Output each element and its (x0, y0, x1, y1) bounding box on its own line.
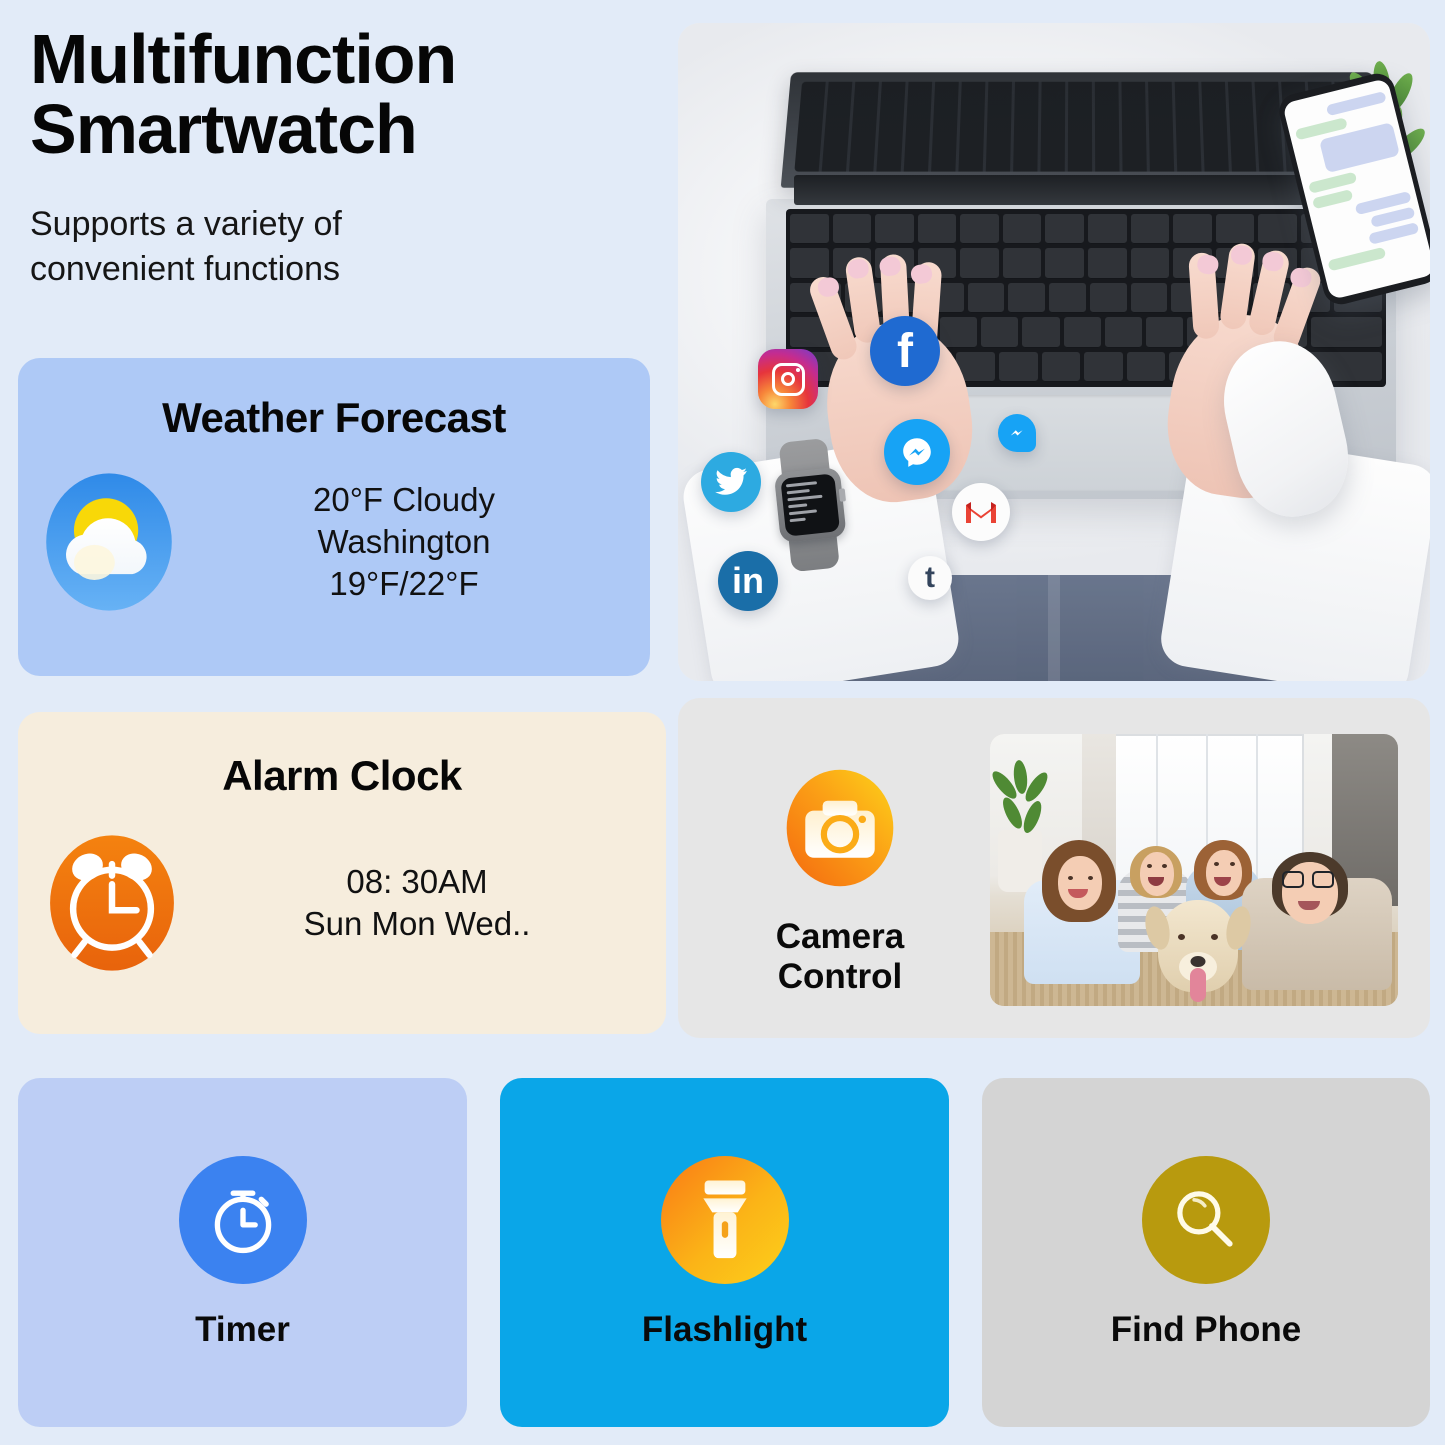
gmail-envelope-icon (964, 499, 998, 525)
weather-card-heading: Weather Forecast (18, 394, 650, 442)
weather-range: 19°F/22°F (188, 563, 620, 605)
camera-control-label: Camera Control (734, 917, 946, 997)
alarm-clock-icon (40, 828, 184, 978)
facebook-icon[interactable]: f (870, 316, 940, 386)
watch-crown-button[interactable] (839, 488, 846, 502)
tumblr-icon[interactable]: t (908, 556, 952, 600)
twitter-bird-icon (714, 467, 748, 497)
laptop-hinge (794, 175, 1372, 205)
laptop-desk-scene: f in t (678, 23, 1430, 681)
smartwatch-on-wrist (769, 456, 852, 549)
timer-label: Timer (195, 1310, 290, 1350)
messenger-bubble-icon[interactable] (998, 414, 1036, 452)
family-with-dog-photo (990, 734, 1398, 1006)
tumblr-glyph: t (925, 561, 935, 595)
weather-temp-condition: 20°F Cloudy (188, 479, 620, 521)
camera-icon (778, 762, 902, 894)
timer-card[interactable]: Timer (18, 1078, 467, 1427)
camera-control-card[interactable]: Camera Control (678, 698, 1430, 1038)
hero-lifestyle-image: f in t (678, 23, 1430, 681)
headline-block: Multifunction Smartwatch Supports a vari… (30, 24, 660, 292)
messenger-bolt-icon (900, 435, 934, 469)
twitter-icon[interactable] (701, 452, 761, 512)
messenger-bolt-small-icon (1007, 423, 1027, 443)
messenger-icon[interactable] (884, 419, 950, 485)
alarm-card-heading: Alarm Clock (18, 752, 666, 800)
alarm-readout: 08: 30AM Sun Mon Wed.. (192, 861, 642, 945)
gmail-icon[interactable] (952, 483, 1010, 541)
alarm-time: 08: 30AM (192, 861, 642, 903)
linkedin-glyph: in (732, 560, 764, 602)
weather-readout: 20°F Cloudy Washington 19°F/22°F (188, 479, 620, 606)
facebook-glyph: f (897, 324, 913, 379)
alarm-days: Sun Mon Wed.. (192, 903, 642, 945)
instagram-icon[interactable] (758, 349, 818, 409)
alarm-clock-card[interactable]: Alarm Clock 08: 30AM Sun Mon Wed.. (18, 712, 666, 1034)
magnifier-icon (1142, 1156, 1270, 1284)
weather-location: Washington (188, 521, 620, 563)
flashlight-card[interactable]: Flashlight (500, 1078, 949, 1427)
linkedin-icon[interactable]: in (718, 551, 778, 611)
find-phone-label: Find Phone (1111, 1310, 1302, 1350)
flashlight-label: Flashlight (642, 1310, 807, 1350)
flashlight-icon (661, 1156, 789, 1284)
partly-cloudy-icon (36, 466, 182, 618)
camera-control-icon-block: Camera Control (734, 762, 946, 997)
find-phone-card[interactable]: Find Phone (982, 1078, 1430, 1427)
stopwatch-icon (179, 1156, 307, 1284)
smartwatch-screen (780, 473, 840, 536)
weather-forecast-card[interactable]: Weather Forecast 20°F Cloudy Washington … (18, 358, 650, 676)
page-title: Multifunction Smartwatch (30, 24, 660, 164)
page-subtitle: Supports a variety of convenient functio… (30, 202, 660, 292)
